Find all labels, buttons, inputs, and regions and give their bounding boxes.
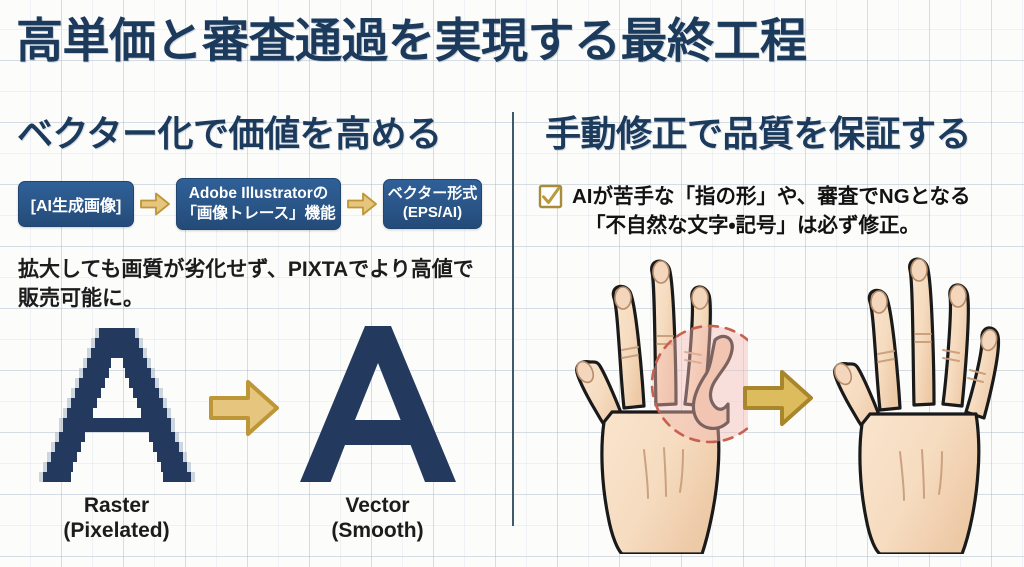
body-text-line: 拡大しても画質が劣化せず、PIXTAでより高値で bbox=[18, 256, 488, 285]
left-column-heading: ベクター化で価値を高める bbox=[17, 114, 442, 154]
hand-correction-illustration bbox=[512, 254, 1024, 567]
bullet-text: AIが苦手な「指の形」や、審査でNGとなる 「不自然な文字・記号」は必ず修正。 bbox=[572, 182, 971, 240]
process-step-ai-generated-image[interactable]: [AI生成画像] bbox=[18, 181, 134, 227]
page-title: 高単価と審査通過を実現する最終工程 bbox=[16, 15, 916, 67]
process-step-illustrator-trace[interactable]: Adobe Illustratorの 「画像トレース」機能 bbox=[176, 178, 341, 230]
raster-example: Raster (Pixelated) bbox=[24, 324, 209, 544]
vector-caption: Vector (Smooth) bbox=[285, 494, 470, 544]
hand-with-deformed-finger bbox=[552, 254, 748, 554]
process-step-vector-format[interactable]: ベクター形式 (EPS/AI) bbox=[383, 179, 482, 229]
arrow-right-icon bbox=[742, 366, 814, 430]
vector-example: Vector (Smooth) bbox=[285, 324, 470, 544]
right-column-heading: 手動修正で品質を保証する bbox=[545, 114, 971, 154]
process-step-line: 「画像トレース」機能 bbox=[181, 204, 335, 224]
arrow-right-icon bbox=[347, 191, 377, 217]
caption-line: Vector bbox=[285, 494, 470, 519]
bullet-text-line: 「不自然な文字・記号」は必ず修正。 bbox=[585, 211, 971, 240]
caption-line: (Pixelated) bbox=[24, 519, 209, 544]
vectorization-process-flow: [AI生成画像] Adobe Illustratorの 「画像トレース」機能 ベ… bbox=[18, 178, 482, 230]
body-text-line: 販売可能に。 bbox=[18, 285, 488, 314]
hand-corrected bbox=[812, 254, 1008, 554]
raster-caption: Raster (Pixelated) bbox=[24, 494, 209, 544]
right-column: 手動修正で品質を保証する AIが苦手な「指の形」や、審査でNGとなる 「不自然な… bbox=[512, 104, 1024, 567]
process-step-line: ベクター形式 bbox=[388, 185, 477, 204]
slide-canvas: 高単価と審査通過を実現する最終工程 ベクター化で価値を高める [AI生成画像] … bbox=[0, 0, 1024, 567]
vector-letter-a-glyph bbox=[294, 324, 462, 486]
left-column-body-text: 拡大しても画質が劣化せず、PIXTAでより高値で 販売可能に。 bbox=[18, 256, 488, 314]
raster-letter-a-glyph bbox=[33, 324, 201, 486]
arrow-right-icon bbox=[140, 191, 170, 217]
process-step-line: (EPS/AI) bbox=[403, 204, 462, 223]
caption-line: Raster bbox=[24, 494, 209, 519]
caption-line: (Smooth) bbox=[285, 519, 470, 544]
bullet-text-line: AIが苦手な「指の形」や、審査でNGとなる bbox=[572, 182, 971, 211]
process-step-line: Adobe Illustratorの bbox=[189, 184, 329, 204]
left-column: ベクター化で価値を高める [AI生成画像] Adobe Illustratorの… bbox=[0, 104, 512, 567]
raster-vector-comparison: Raster (Pixelated) Vector (Smooth) bbox=[0, 324, 512, 564]
arrow-right-icon bbox=[208, 376, 280, 440]
checkbox-checked-icon bbox=[538, 184, 563, 209]
manual-correction-bullet: AIが苦手な「指の形」や、審査でNGとなる 「不自然な文字・記号」は必ず修正。 bbox=[538, 182, 1008, 240]
process-step-line: [AI生成画像] bbox=[31, 192, 122, 216]
